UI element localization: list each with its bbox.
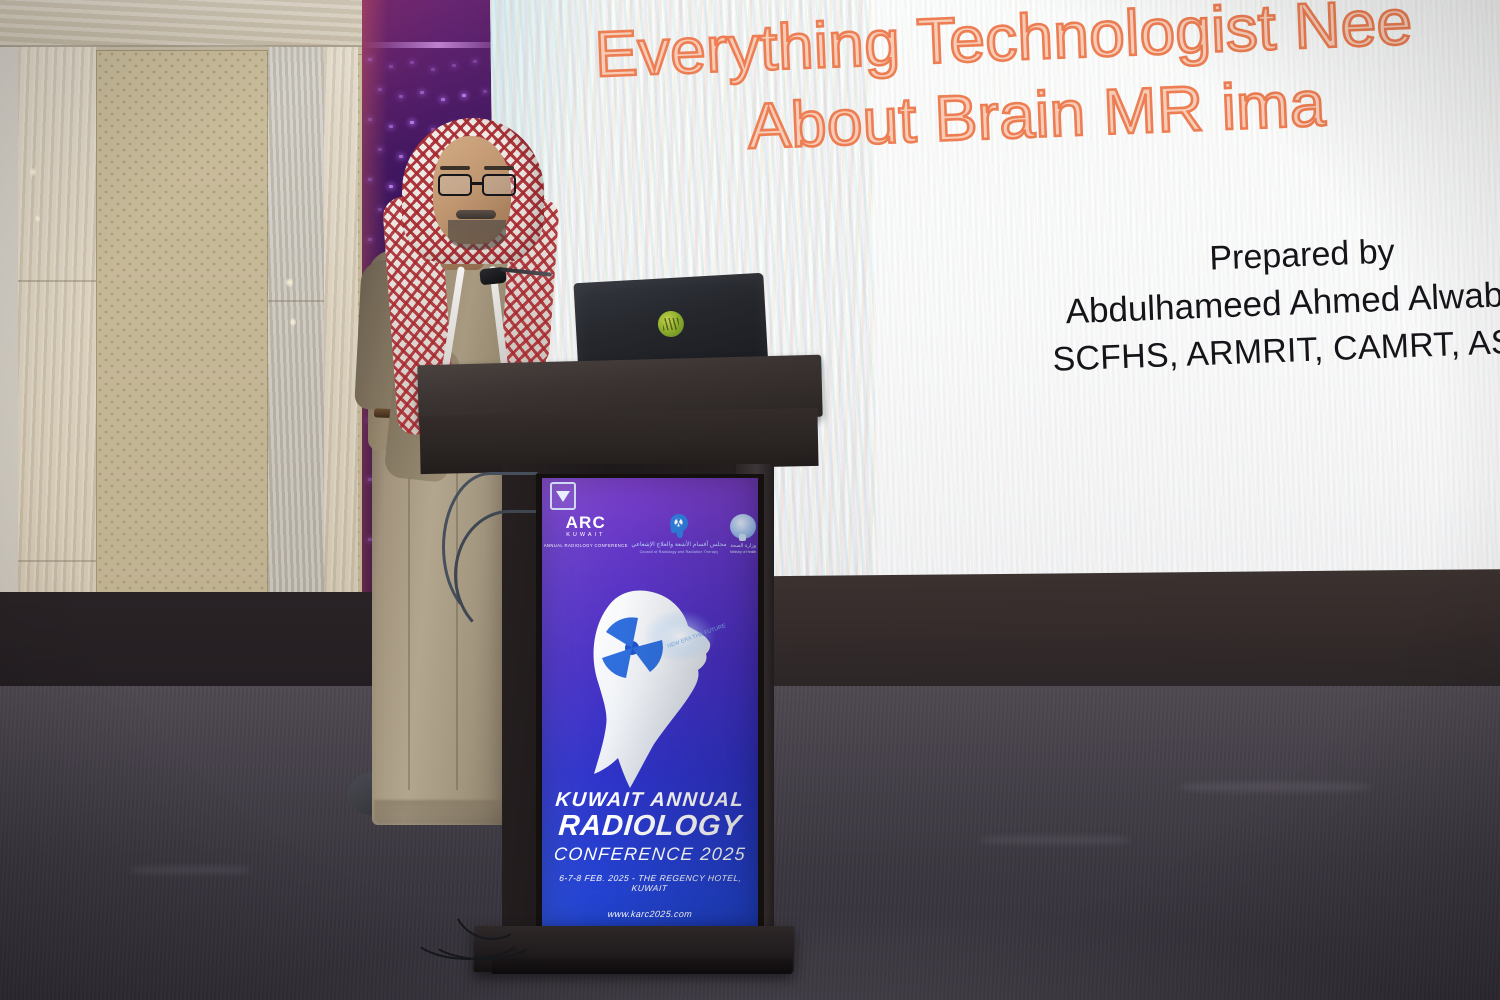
led-dot <box>368 58 372 61</box>
floor-scuff-mark <box>980 836 1130 844</box>
stone-seam <box>18 560 96 562</box>
speaker-eyebrow <box>484 166 514 170</box>
wall-light-glint <box>35 215 40 222</box>
stone-seam <box>268 300 324 302</box>
led-dot <box>399 95 403 98</box>
led-dot <box>462 94 466 97</box>
led-dot <box>410 61 414 64</box>
floor-scuff-mark <box>130 866 250 874</box>
led-dot <box>420 91 424 94</box>
conference-photo-scene: Everything Technologist Nee About Brain … <box>0 0 1500 1000</box>
speaker-eyebrow <box>440 166 470 170</box>
eyeglass-lens <box>438 174 472 196</box>
led-dot <box>431 68 435 71</box>
led-dot <box>378 88 382 91</box>
wall-light-glint <box>286 278 293 287</box>
eyeglass-bridge <box>472 182 482 185</box>
wall-stone-header <box>0 0 380 47</box>
eyeglasses <box>438 174 518 198</box>
led-dot <box>473 60 477 63</box>
speaker-beard <box>448 220 506 250</box>
eyeglass-lens <box>482 174 516 196</box>
speaker-mustache <box>456 210 496 219</box>
led-dot <box>441 98 445 101</box>
stone-seam <box>18 280 96 282</box>
conference-banner: ARC KUWAIT ANNUAL RADIOLOGY CONFERENCE <box>542 478 758 926</box>
podium-base-plinth <box>492 958 793 974</box>
hp-logo-icon <box>657 310 684 337</box>
wall-light-glint <box>290 318 296 326</box>
banner-lighting-overlay <box>542 478 758 926</box>
floor-scuff-mark <box>1180 782 1370 792</box>
led-dot <box>389 65 393 68</box>
wall-light-glint <box>30 168 36 176</box>
led-dot <box>483 90 487 93</box>
podium: ARC KUWAIT ANNUAL RADIOLOGY CONFERENCE <box>418 360 838 970</box>
led-dot <box>452 64 456 67</box>
slide-subtitle-block: Prepared by Abdulhameed Ahmed Alwabari S… <box>1021 221 1500 383</box>
